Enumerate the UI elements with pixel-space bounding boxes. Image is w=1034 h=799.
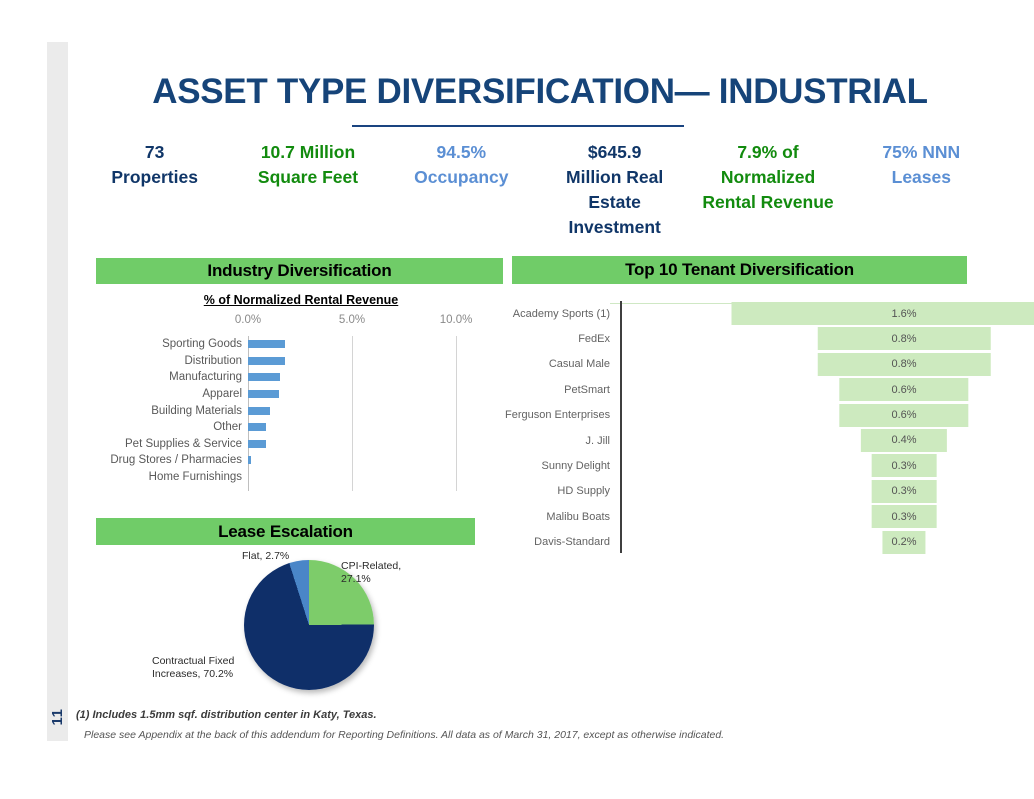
stat-value: 73 [80,140,229,165]
stat-column-0: 73Properties [78,140,231,190]
tenant-bar-track: 0.3% [617,479,975,504]
tenant-value-label: 0.2% [891,536,916,548]
pie-label-cpi: CPI-Related, 27.1% [341,560,401,586]
lease-escalation-chart: Flat, 2.7% CPI-Related, 27.1% Contractua… [96,548,486,700]
industry-row: Drug Stores / Pharmacies [96,452,506,469]
industry-category-label: Drug Stores / Pharmacies [96,454,248,466]
tenant-row: Davis-Standard0.2% [505,530,975,555]
stat-value: $645.9 [540,140,689,165]
slide-canvas: 11 ASSET TYPE DIVERSIFICATION— INDUSTRIA… [0,0,1034,799]
tenant-bar-track: 0.2% [617,530,975,555]
industry-row: Pet Supplies & Service [96,436,506,453]
tenant-name-label: J. Jill [505,435,617,447]
industry-x-tick-1: 5.0% [339,314,365,326]
industry-category-label: Pet Supplies & Service [96,438,248,450]
tenant-value-label: 0.8% [891,358,916,370]
page-title: ASSET TYPE DIVERSIFICATION— INDUSTRIAL [90,72,990,112]
tenant-row: PetSmart0.6% [505,377,975,402]
stat-column-3: $645.9Million Real Estate Investment [538,140,691,240]
tenant-bar-track: 0.4% [617,428,975,453]
industry-bar [248,340,285,348]
industry-bar [248,423,266,431]
stat-column-1: 10.7 MillionSquare Feet [231,140,384,190]
stat-column-2: 94.5%Occupancy [385,140,538,190]
stat-value: 94.5% [387,140,536,165]
tenant-name-label: Malibu Boats [505,511,617,523]
stat-value: 10.7 Million [233,140,382,165]
tenant-value-label: 0.6% [891,409,916,421]
industry-category-label: Home Furnishings [96,471,248,483]
tenant-value-label: 0.3% [891,511,916,523]
tenant-bar-track: 0.3% [617,453,975,478]
industry-bar [248,407,270,415]
tenant-value-label: 0.4% [891,434,916,446]
tenant-panel-header: Top 10 Tenant Diversification [512,256,967,284]
title-divider [352,125,684,127]
tenant-bar: 0.8% [818,327,991,350]
tenant-name-label: Davis-Standard [505,536,617,548]
stats-row: 73Properties10.7 MillionSquare Feet94.5%… [78,140,998,240]
stat-label: Square Feet [233,165,382,190]
tenant-bar: 0.3% [872,480,937,503]
tenant-rows: Academy Sports (1)1.6%FedEx0.8%Casual Ma… [505,301,975,555]
tenant-bar: 0.3% [872,505,937,528]
industry-row: Sporting Goods [96,336,506,353]
industry-panel-header: Industry Diversification [96,258,503,284]
tenant-value-label: 0.8% [891,333,916,345]
stat-column-5: 75% NNNLeases [845,140,998,190]
tenant-row: Casual Male0.8% [505,352,975,377]
pie-label-contractual-fixed: Contractual Fixed Increases, 70.2% [152,655,234,681]
tenant-name-label: HD Supply [505,485,617,497]
tenant-diversification-chart: Academy Sports (1)1.6%FedEx0.8%Casual Ma… [505,292,975,567]
tenant-row: Ferguson Enterprises0.6% [505,403,975,428]
tenant-bar: 0.8% [818,353,991,376]
industry-category-label: Distribution [96,355,248,367]
tenant-name-label: FedEx [505,333,617,345]
tenant-value-label: 0.6% [891,384,916,396]
stat-label: Leases [847,165,996,190]
tenant-value-label: 0.3% [891,485,916,497]
left-decor-rail [47,42,68,741]
footnote-2: Please see Appendix at the back of this … [84,729,724,741]
industry-category-label: Apparel [96,388,248,400]
tenant-name-label: Sunny Delight [505,460,617,472]
tenant-bar-track: 1.6% [617,301,975,326]
tenant-bar-track: 0.3% [617,504,975,529]
tenant-row: Malibu Boats0.3% [505,504,975,529]
tenant-row: Academy Sports (1)1.6% [505,301,975,326]
tenant-row: J. Jill0.4% [505,428,975,453]
tenant-name-label: Ferguson Enterprises [505,409,617,421]
industry-diversification-chart: % of Normalized Rental Revenue 0.0%5.0%1… [96,288,506,503]
industry-bar [248,390,279,398]
tenant-row: Sunny Delight0.3% [505,453,975,478]
lease-panel-header: Lease Escalation [96,518,475,545]
industry-row: Building Materials [96,402,506,419]
industry-row: Home Furnishings [96,469,506,486]
tenant-bar: 0.2% [882,531,925,554]
tenant-bar: 0.6% [839,404,968,427]
tenant-name-label: PetSmart [505,384,617,396]
tenant-bar: 0.4% [861,429,947,452]
stat-label: Normalized Rental Revenue [693,165,842,215]
tenant-bar-track: 0.8% [617,352,975,377]
industry-row: Apparel [96,386,506,403]
industry-category-label: Manufacturing [96,371,248,383]
stat-value: 7.9% of [693,140,842,165]
industry-plot-area: 0.0%5.0%10.0%Sporting GoodsDistributionM… [96,314,506,499]
tenant-value-label: 1.6% [891,308,916,320]
page-number: 11 [40,702,74,732]
stat-column-4: 7.9% ofNormalized Rental Revenue [691,140,844,215]
tenant-bar: 0.6% [839,378,968,401]
tenant-bar-track: 0.6% [617,403,975,428]
industry-category-label: Other [96,421,248,433]
stat-label: Properties [80,165,229,190]
stat-value: 75% NNN [847,140,996,165]
industry-row: Other [96,419,506,436]
stat-label: Occupancy [387,165,536,190]
pie-label-flat: Flat, 2.7% [242,550,289,563]
industry-bar [248,440,266,448]
tenant-row: FedEx0.8% [505,326,975,351]
tenant-bar: 1.6% [732,302,1034,325]
tenant-value-label: 0.3% [891,460,916,472]
industry-x-tick-0: 0.0% [235,314,261,326]
tenant-name-label: Casual Male [505,358,617,370]
tenant-bar: 0.3% [872,454,937,477]
industry-chart-subtitle: % of Normalized Rental Revenue [96,293,506,307]
industry-row: Manufacturing [96,369,506,386]
footnote-1: (1) Includes 1.5mm sqf. distribution cen… [76,709,377,721]
industry-bar [248,373,280,381]
industry-category-label: Building Materials [96,405,248,417]
tenant-name-label: Academy Sports (1) [505,308,617,320]
tenant-bar-track: 0.8% [617,326,975,351]
tenant-row: HD Supply0.3% [505,479,975,504]
tenant-bar-track: 0.6% [617,377,975,402]
industry-x-tick-2: 10.0% [440,314,473,326]
industry-category-label: Sporting Goods [96,338,248,350]
stat-label: Million Real Estate Investment [540,165,689,240]
industry-bar [248,456,251,464]
industry-bar [248,357,285,365]
industry-rows: Sporting GoodsDistributionManufacturingA… [96,336,506,485]
industry-row: Distribution [96,353,506,370]
